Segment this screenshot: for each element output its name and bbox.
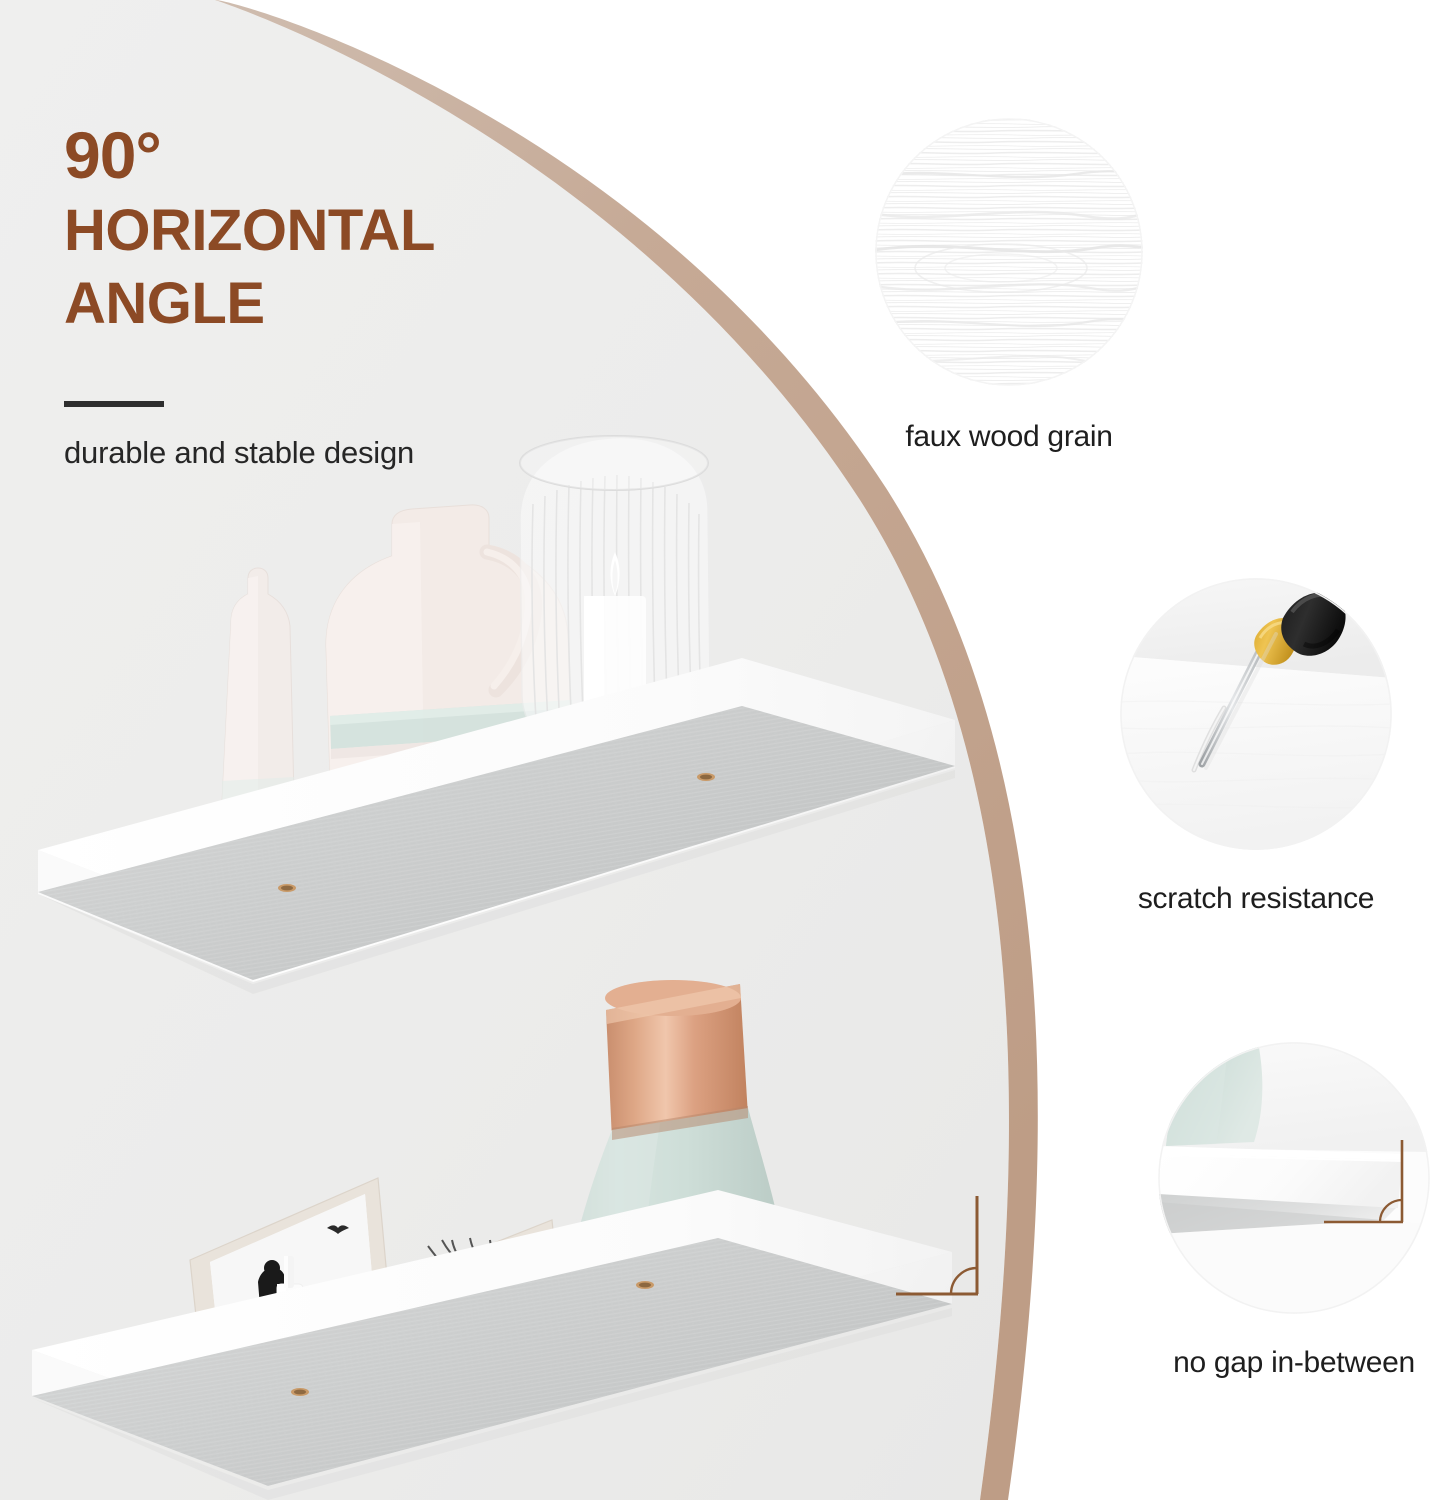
headline-line-1: HORIZONTAL [64, 200, 684, 261]
product-feature-graphic: 90° HORIZONTAL ANGLE durable and stable … [0, 0, 1445, 1500]
lower-shelf-screw-hole-left [291, 1388, 309, 1396]
feature-label-faux-wood-grain: faux wood grain [875, 420, 1143, 454]
feature-label-scratch-resistance: scratch resistance [1120, 882, 1392, 916]
shelf-edge-right-angle-icon [1158, 1042, 1430, 1314]
screwdriver-icon [1120, 578, 1392, 850]
upper-shelf-group [0, 400, 1000, 960]
feature-no-gap-in-between: no gap in-between [1158, 1042, 1430, 1380]
ninety-degree-angle-marker [888, 1188, 1008, 1318]
headline-line-2: ANGLE [64, 273, 684, 334]
decor-small-white-vase [222, 568, 294, 803]
feature-faux-wood-grain: faux wood grain [875, 118, 1143, 454]
lower-shelf-screw-hole-right [636, 1281, 654, 1289]
feature-scratch-resistance: scratch resistance [1120, 578, 1392, 916]
lower-shelf-group [0, 880, 1010, 1440]
wood-grain-swatch-icon [875, 118, 1143, 386]
upper-shelf-screw-hole-right [697, 773, 715, 781]
headline-degree: 90° [64, 122, 684, 188]
feature-label-no-gap-in-between: no gap in-between [1158, 1346, 1430, 1380]
